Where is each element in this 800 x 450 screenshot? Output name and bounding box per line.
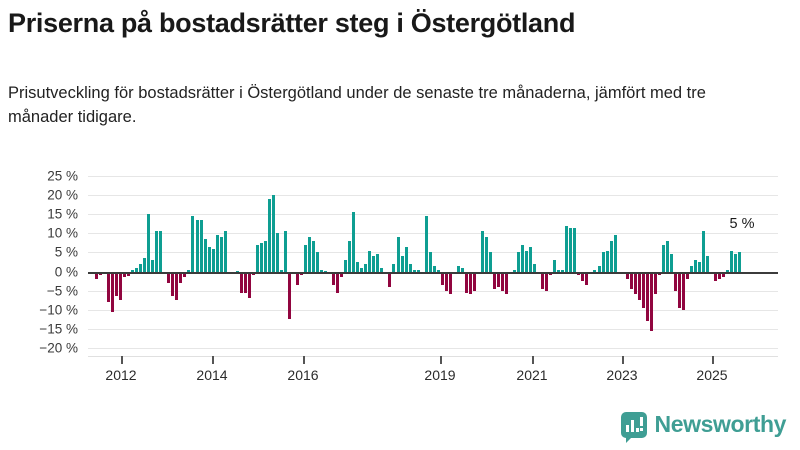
bar [650, 272, 653, 331]
bar [630, 272, 633, 289]
bar [569, 228, 572, 272]
bar [224, 231, 227, 271]
y-tick-label: −15 % [39, 321, 78, 336]
bar [312, 241, 315, 272]
logo-bars [626, 418, 639, 432]
bar [662, 245, 665, 272]
bar [352, 212, 355, 271]
bar [284, 231, 287, 271]
x-axis: 2012201420162019202120232025 [88, 356, 778, 396]
bar [111, 272, 114, 312]
bar [260, 243, 263, 272]
bar [702, 231, 705, 271]
x-tick [121, 356, 123, 364]
bar [682, 272, 685, 310]
bar [139, 264, 142, 272]
bar [272, 195, 275, 271]
bar [155, 231, 158, 271]
bar [545, 272, 548, 291]
chart-page: Priserna på bostadsrätter steg i Östergö… [0, 0, 800, 450]
x-tick-label: 2019 [424, 367, 455, 383]
bar [288, 272, 291, 320]
bar [678, 272, 681, 308]
bar [638, 272, 641, 301]
zero-line [88, 272, 778, 274]
bar [469, 272, 472, 295]
x-tick-label: 2025 [696, 367, 727, 383]
bar [706, 256, 709, 271]
x-tick-label: 2012 [105, 367, 136, 383]
bar [529, 247, 532, 272]
bar [405, 247, 408, 272]
bar [445, 272, 448, 291]
bar [151, 260, 154, 271]
bar [200, 220, 203, 272]
bar [734, 254, 737, 271]
bar [614, 235, 617, 271]
bar [541, 272, 544, 289]
x-tick [712, 356, 714, 364]
bar [553, 260, 556, 271]
bar [115, 272, 118, 297]
x-tick-label: 2023 [606, 367, 637, 383]
x-tick [622, 356, 624, 364]
bar [441, 272, 444, 285]
bar [368, 251, 371, 272]
x-axis-line [88, 356, 778, 357]
bar [276, 233, 279, 271]
bar [175, 272, 178, 301]
bar [533, 264, 536, 272]
x-tick [532, 356, 534, 364]
bar [670, 254, 673, 271]
bar [409, 264, 412, 272]
bar [573, 228, 576, 272]
bar [147, 214, 150, 271]
bar [264, 241, 267, 272]
bar [143, 258, 146, 271]
bar [425, 216, 428, 271]
bar [316, 252, 319, 271]
bar [171, 272, 174, 297]
value-annotation: 5 % [730, 216, 755, 232]
y-tick-label: 20 % [47, 188, 78, 203]
x-tick-label: 2014 [196, 367, 227, 383]
bar [565, 226, 568, 272]
bar [196, 220, 199, 272]
x-tick-label: 2016 [287, 367, 318, 383]
page-subtitle: Prisutveckling för bostadsrätter i Öster… [8, 82, 760, 130]
bar [119, 272, 122, 301]
y-tick-label: 0 % [55, 264, 78, 279]
bar [364, 264, 367, 272]
bar [397, 237, 400, 271]
bar [107, 272, 110, 303]
bar [517, 252, 520, 271]
bar [646, 272, 649, 322]
x-tick-label: 2021 [516, 367, 547, 383]
bar [730, 251, 733, 272]
bar [204, 239, 207, 271]
bar [525, 251, 528, 272]
bar [304, 245, 307, 272]
bar [244, 272, 247, 293]
bar [392, 264, 395, 272]
bar [220, 237, 223, 271]
y-tick-label: 15 % [47, 207, 78, 222]
bar [501, 272, 504, 291]
bar [208, 247, 211, 272]
logo-exclamation [640, 417, 643, 426]
bar-series [88, 176, 778, 348]
bar-chart: 25 %20 %15 %10 %5 %0 %−5 %−10 %−15 %−20 … [0, 168, 800, 378]
y-tick-label: −20 % [39, 341, 78, 356]
plot-area [88, 176, 778, 348]
bar [336, 272, 339, 293]
bar [429, 252, 432, 271]
bar [401, 256, 404, 271]
bar [296, 272, 299, 285]
bar [372, 256, 375, 271]
bar [465, 272, 468, 293]
logo-text: Newsworthy [655, 411, 786, 438]
bar [698, 262, 701, 272]
bar [602, 252, 605, 271]
x-tick [303, 356, 305, 364]
y-tick-label: 25 % [47, 169, 78, 184]
bar [493, 272, 496, 289]
bar [240, 272, 243, 293]
bar [449, 272, 452, 295]
bar [376, 254, 379, 271]
bar [642, 272, 645, 308]
page-title: Priserna på bostadsrätter steg i Östergö… [8, 8, 792, 38]
bar [521, 245, 524, 272]
bar [388, 272, 391, 287]
bar [610, 241, 613, 272]
bar [159, 231, 162, 271]
bar [268, 199, 271, 272]
bar [634, 272, 637, 295]
bar [473, 272, 476, 291]
y-tick-label: −10 % [39, 302, 78, 317]
bar [497, 272, 500, 287]
y-tick-label: −5 % [47, 283, 78, 298]
bar [191, 216, 194, 271]
newsworthy-logo: Newsworthy [621, 411, 786, 438]
x-tick [440, 356, 442, 364]
bar [505, 272, 508, 295]
bar [216, 235, 219, 271]
y-tick-label: 10 % [47, 226, 78, 241]
bar [485, 237, 488, 271]
bar [738, 252, 741, 271]
bar [666, 241, 669, 272]
bar [308, 237, 311, 271]
bar [356, 262, 359, 272]
bar [585, 272, 588, 285]
bar [248, 272, 251, 299]
bar [344, 260, 347, 271]
gridline [88, 348, 778, 349]
bar [606, 251, 609, 272]
bar [654, 272, 657, 295]
bar-chart-bubble-icon [621, 412, 647, 438]
bar [489, 252, 492, 271]
bar [332, 272, 335, 285]
bar [481, 231, 484, 271]
bar [212, 249, 215, 272]
bar [256, 245, 259, 272]
bar [674, 272, 677, 291]
y-tick-label: 5 % [55, 245, 78, 260]
x-tick [212, 356, 214, 364]
bar [348, 241, 351, 272]
y-axis-labels: 25 %20 %15 %10 %5 %0 %−5 %−10 %−15 %−20 … [0, 176, 82, 348]
bar [694, 260, 697, 271]
